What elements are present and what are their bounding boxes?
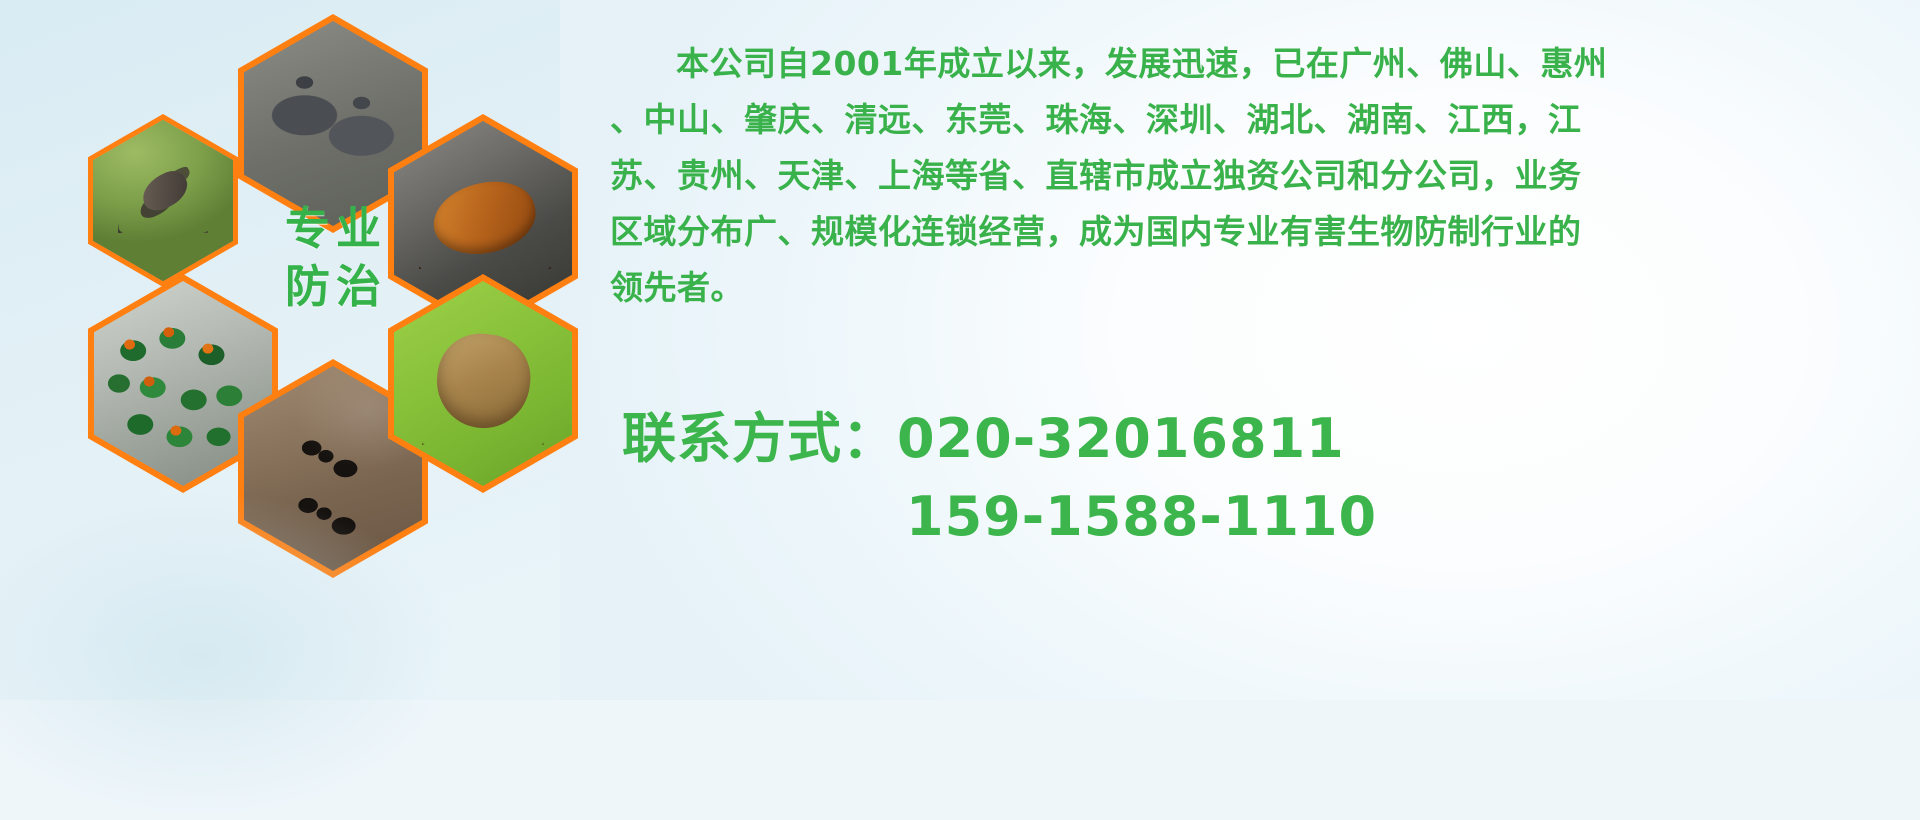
banner-root: 专业 防治 本公司自2001年成立以来，发展迅速，已在广州、佛山、惠州 、中山、… xyxy=(0,0,1920,700)
company-intro-paragraph: 本公司自2001年成立以来，发展迅速，已在广州、佛山、惠州 、中山、肇庆、清远、… xyxy=(610,36,1880,316)
intro-line-5: 领先者。 xyxy=(610,260,1880,316)
logo-slogan-line-1: 专业 xyxy=(256,200,416,258)
contact-block: 联系方式：020-32016811 159-1588-1110 xyxy=(622,400,1892,556)
contact-phone-mobile[interactable]: 159-1588-1110 xyxy=(622,478,1892,556)
contact-phone-landline[interactable]: 联系方式：020-32016811 xyxy=(622,400,1892,478)
stinkbug-photo xyxy=(394,281,572,486)
intro-line-4: 区域分布广、规模化连锁经营，成为国内专业有害生物防制行业的 xyxy=(610,204,1880,260)
hexagon-photo-cluster: 专业 防治 xyxy=(88,14,588,574)
logo-slogan: 专业 防治 xyxy=(256,200,416,315)
intro-line-3: 苏、贵州、天津、上海等省、直辖市成立独资公司和分公司，业务 xyxy=(610,148,1880,204)
intro-line-1: 本公司自2001年成立以来，发展迅速，已在广州、佛山、惠州 xyxy=(610,36,1880,92)
logo-slogan-line-2: 防治 xyxy=(256,258,416,316)
hex-cell-mosquito xyxy=(88,114,238,287)
mosquito-photo xyxy=(93,120,233,281)
intro-line-2: 、中山、肇庆、清远、东莞、珠海、深圳、湖北、湖南、江西，江 xyxy=(610,92,1880,148)
